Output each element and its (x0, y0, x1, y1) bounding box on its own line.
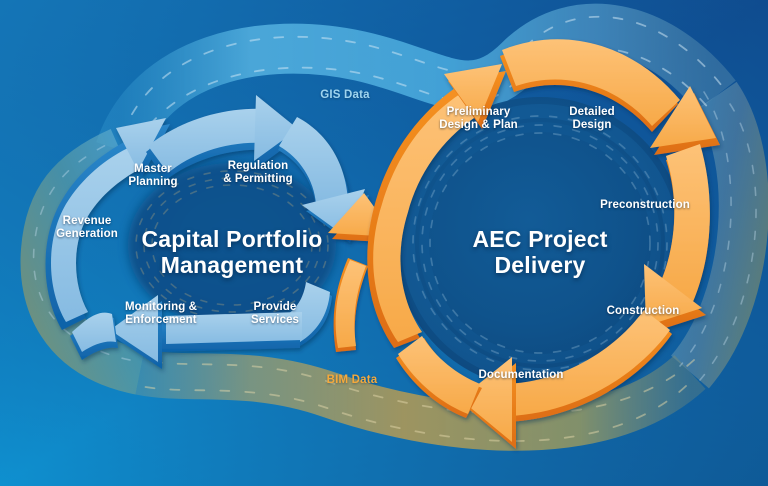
cycle-diagram-graphic (0, 0, 768, 486)
diagram-canvas: Master Planning Regulation & Permitting … (0, 0, 768, 486)
left-hub-disc (134, 169, 330, 321)
